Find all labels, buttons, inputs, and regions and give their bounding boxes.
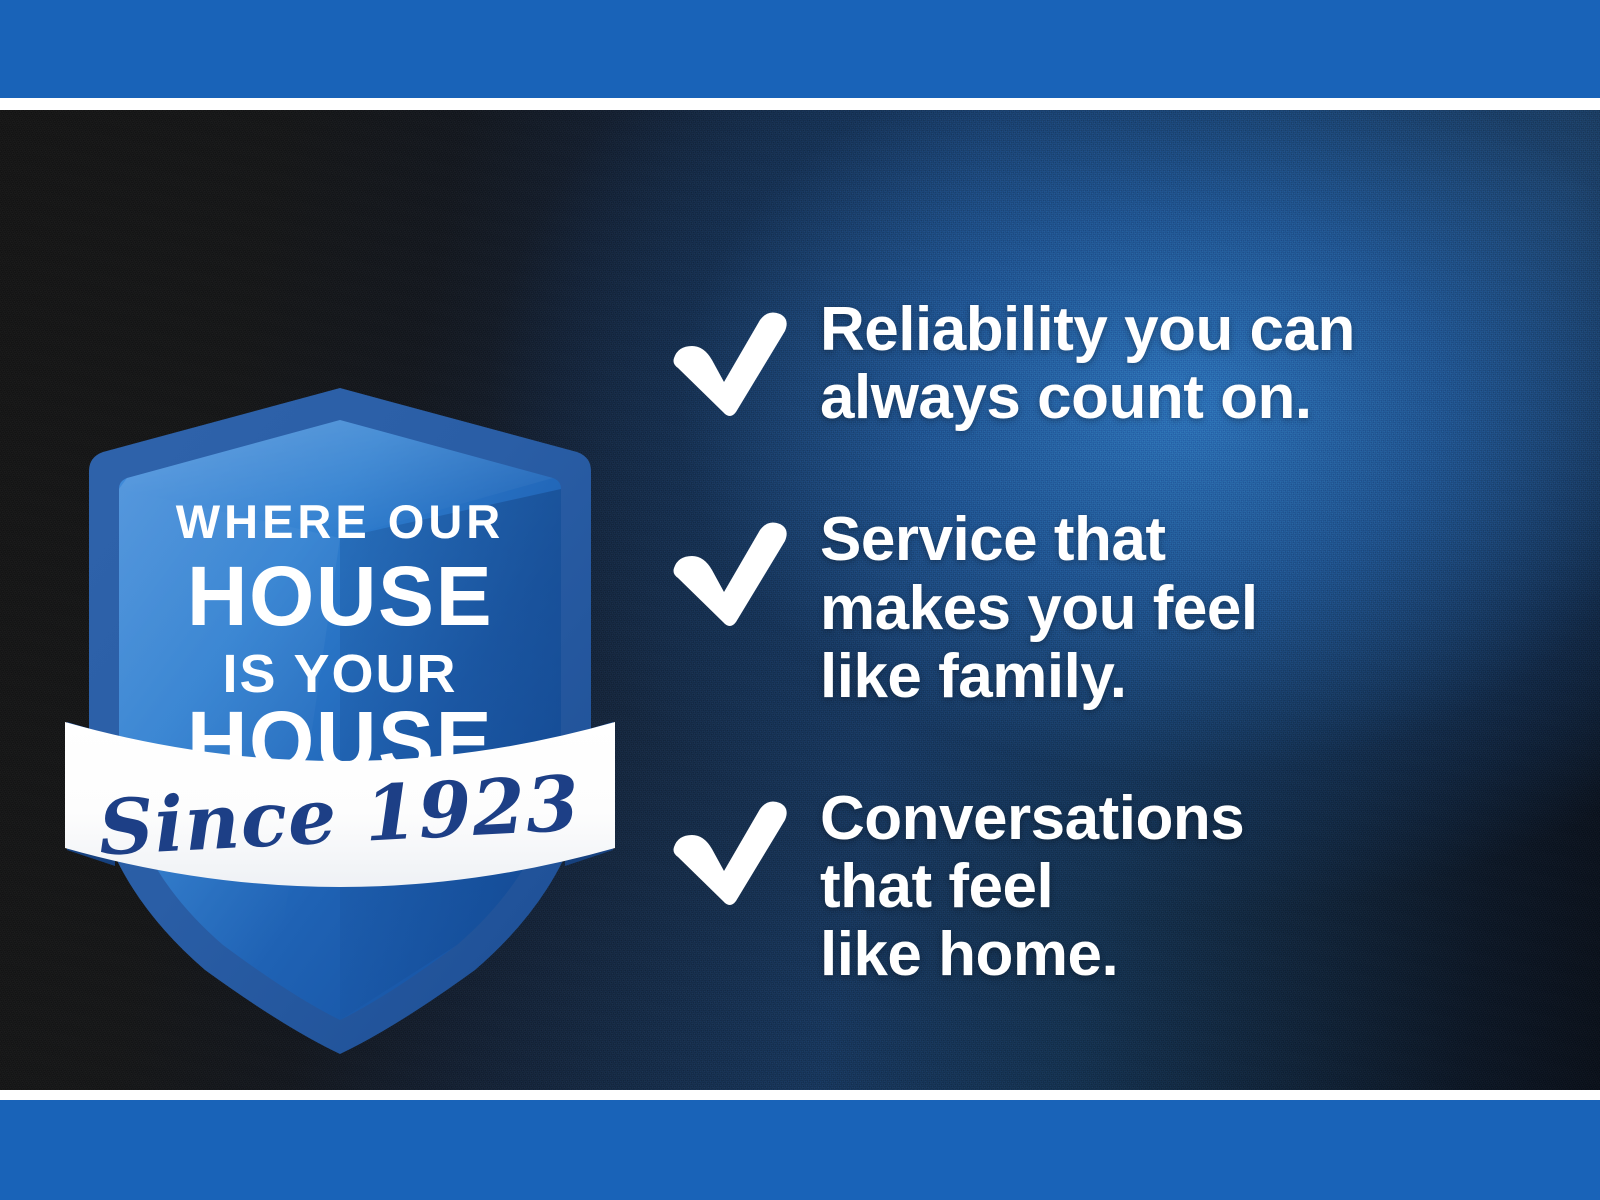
checkmark-icon (668, 506, 820, 628)
emblem-line-2: HOUSE (187, 549, 493, 643)
main-panel: WHERE OUR HOUSE IS YOUR HOUSE Since 1923 (0, 110, 1600, 1090)
emblem-line-1: WHERE OUR (176, 495, 504, 548)
benefit-item: Conversations that feel like home. (668, 785, 1548, 990)
benefits-list: Reliability you can always count on. Ser… (668, 296, 1548, 990)
company-shield-emblem: WHERE OUR HOUSE IS YOUR HOUSE Since 1923 (55, 270, 625, 1060)
benefit-text: Conversations that feel like home. (820, 785, 1548, 990)
benefit-text: Reliability you can always count on. (820, 296, 1548, 432)
checkmark-icon (668, 785, 820, 907)
benefit-item: Service that makes you feel like family. (668, 506, 1548, 711)
promo-poster: WHERE OUR HOUSE IS YOUR HOUSE Since 1923 (0, 0, 1600, 1200)
benefit-text: Service that makes you feel like family. (820, 506, 1548, 711)
brand-bar-top (0, 0, 1600, 98)
checkmark-icon (668, 296, 820, 418)
benefit-item: Reliability you can always count on. (668, 296, 1548, 432)
brand-bar-bottom (0, 1100, 1600, 1200)
